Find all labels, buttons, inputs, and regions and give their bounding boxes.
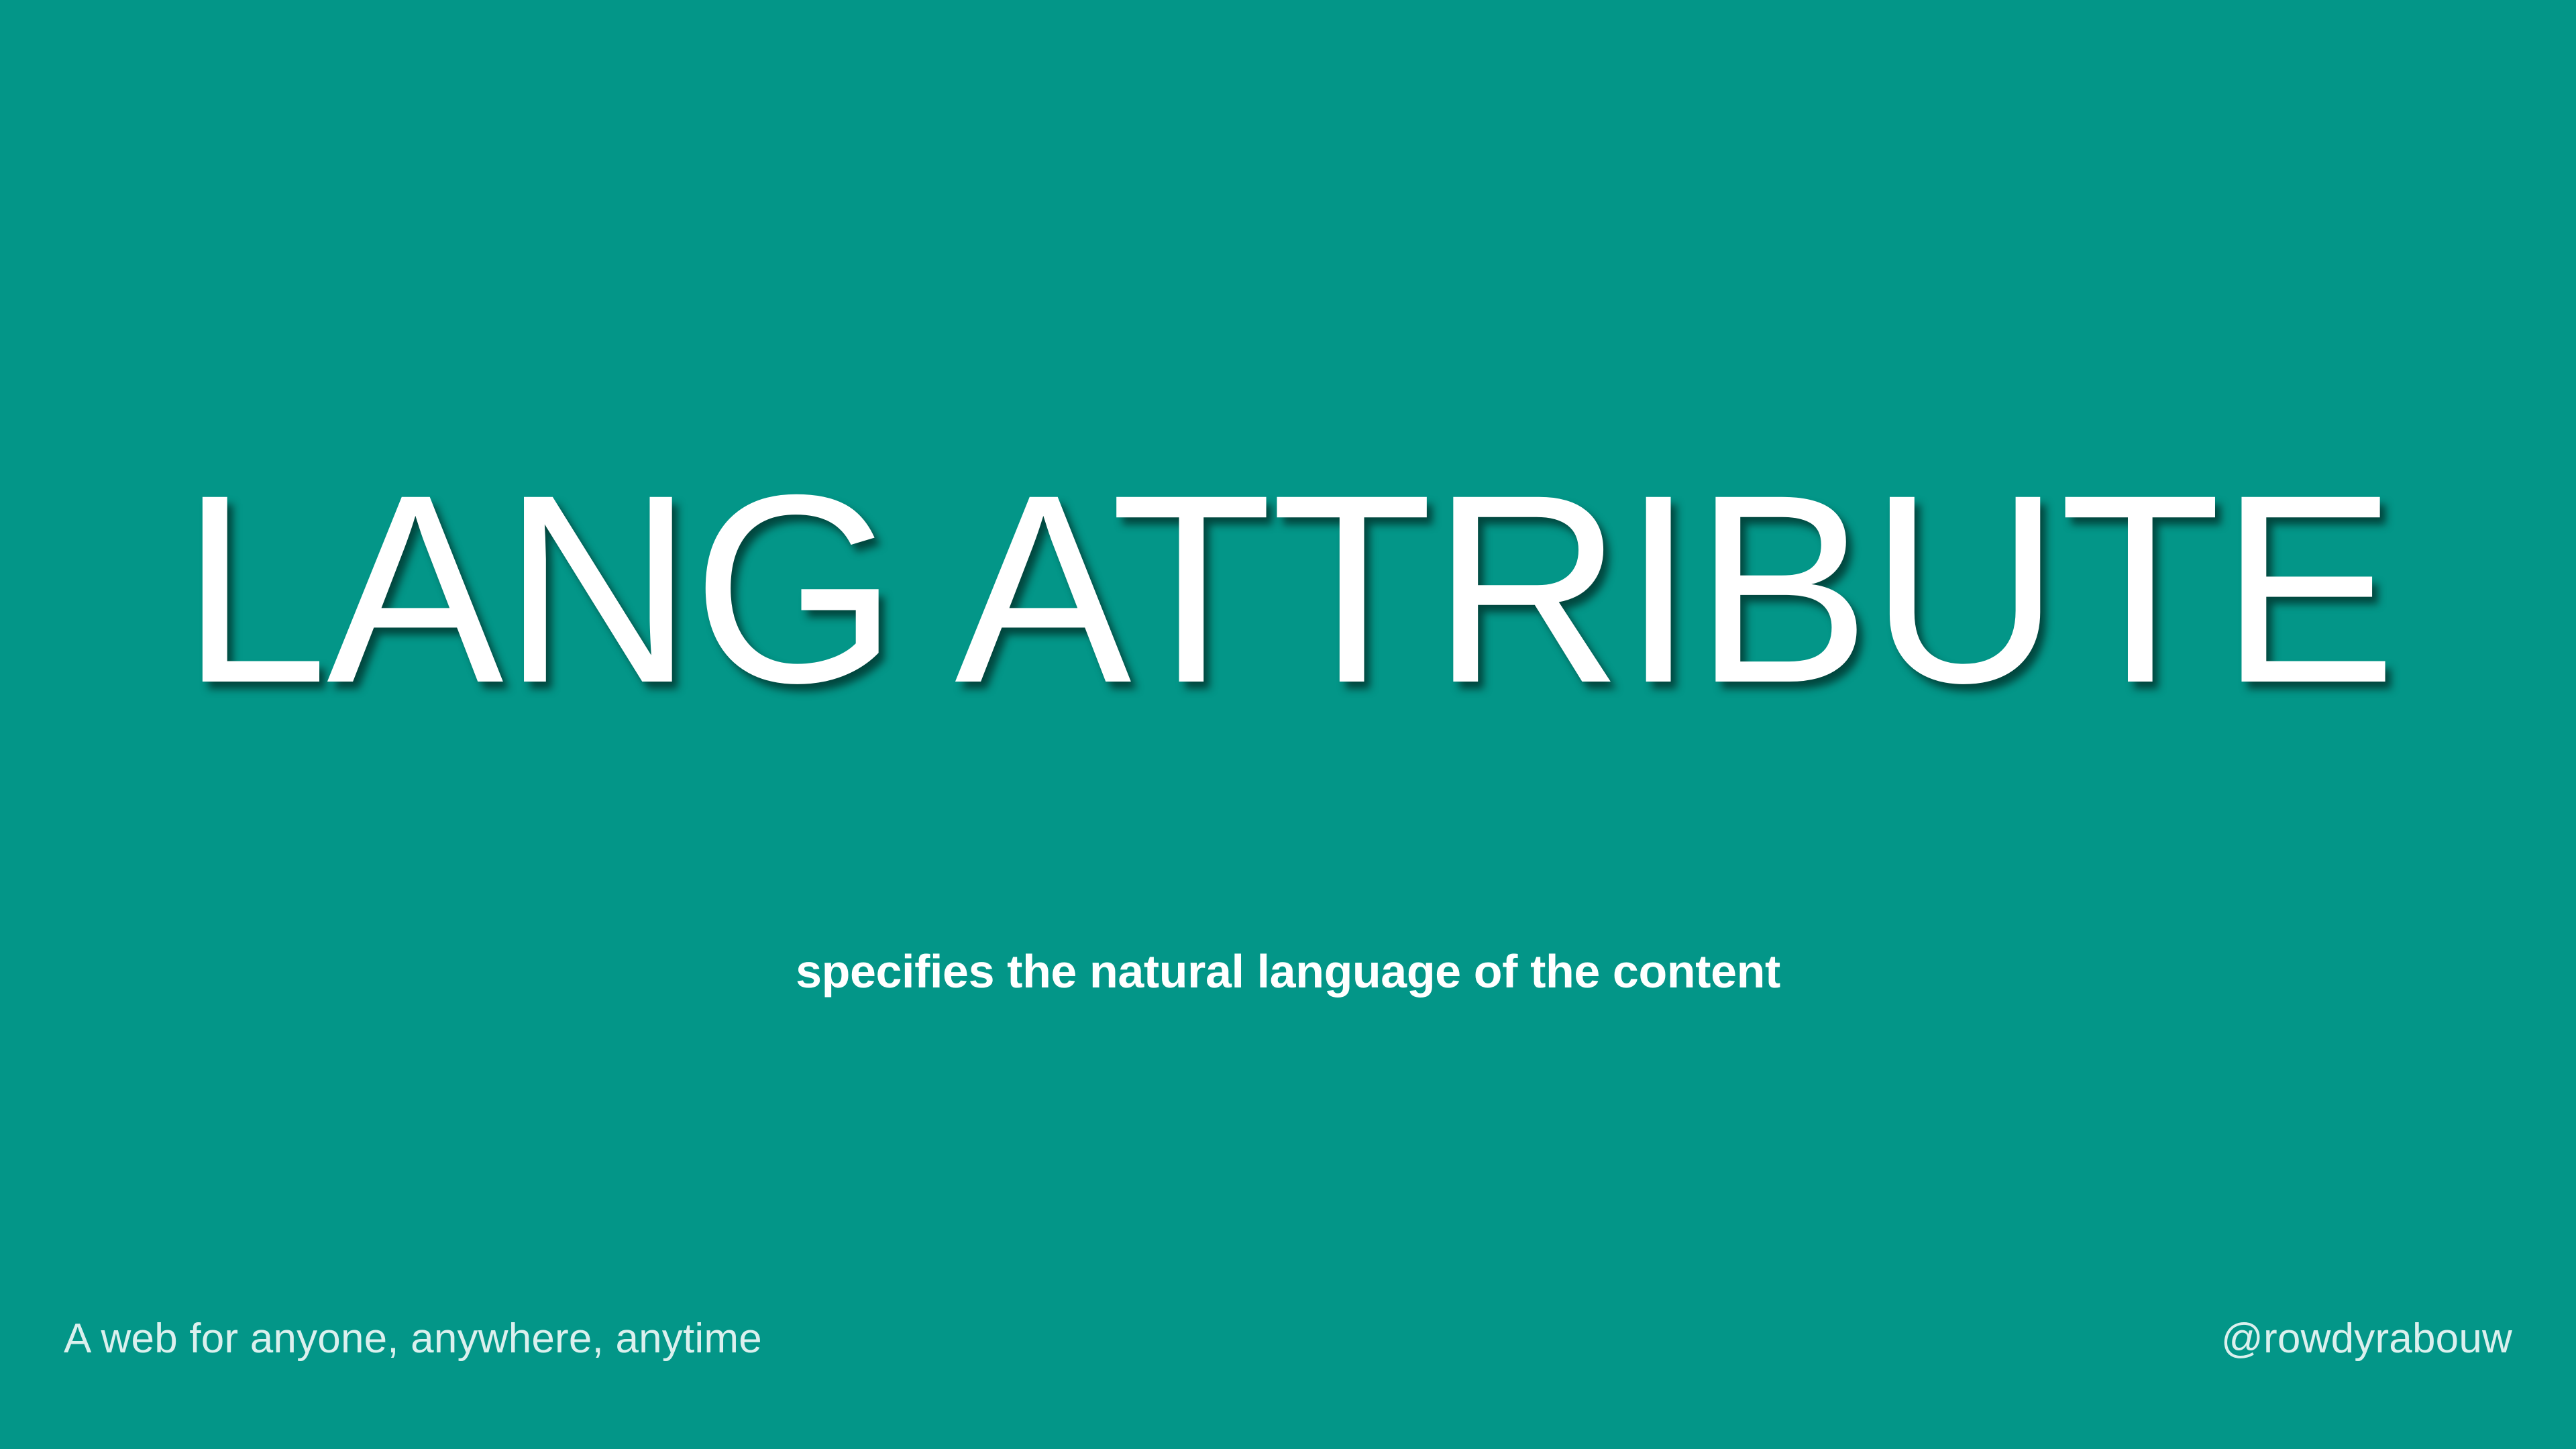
footer-handle: @rowdyrabouw — [2221, 1315, 2512, 1363]
footer-tagline: A web for anyone, anywhere, anytime — [64, 1315, 762, 1363]
title-block: LANG ATTRIBUTE — [0, 0, 2576, 899]
slide-footer: A web for anyone, anywhere, anytime @row… — [0, 1315, 2576, 1449]
page-title: LANG ATTRIBUTE — [96, 455, 2481, 723]
page-subtitle: specifies the natural language of the co… — [796, 939, 1780, 1004]
subtitle-block: specifies the natural language of the co… — [0, 939, 2576, 1004]
presentation-slide: LANG ATTRIBUTE specifies the natural lan… — [0, 0, 2576, 1449]
